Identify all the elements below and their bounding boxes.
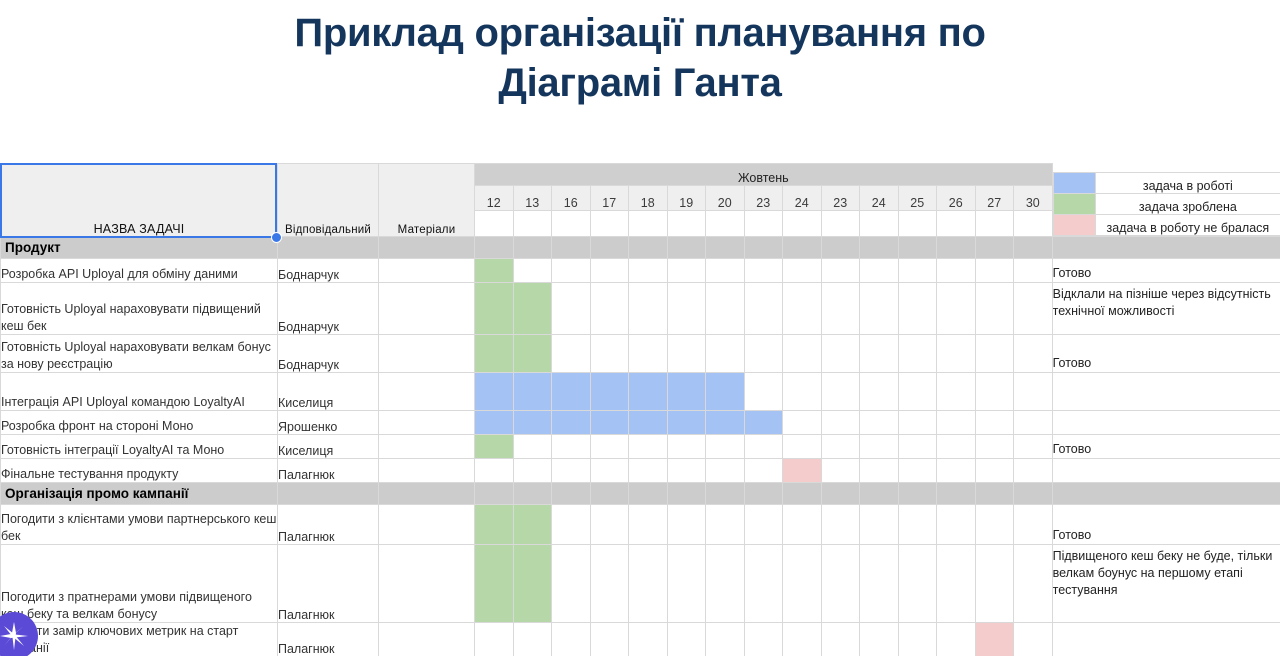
- section-filler-cell: [513, 237, 552, 259]
- gantt-bar-done[interactable]: [475, 335, 514, 373]
- legend-item: задача в роботі: [1053, 173, 1280, 194]
- section-filler-cell: [937, 237, 976, 259]
- gantt-cell[interactable]: [744, 435, 783, 459]
- slide-canvas: Приклад організації планування по Діагра…: [0, 0, 1280, 656]
- task-name-cell[interactable]: Готовність інтеграції LoyaltyAI та Моно: [1, 435, 278, 459]
- materials-cell[interactable]: [379, 283, 475, 335]
- note-cell[interactable]: Готово: [1052, 335, 1280, 373]
- note-cell[interactable]: Готово: [1052, 505, 1280, 545]
- header-row-month: НАЗВА ЗАДАЧІВідповідальнийМатеріалиЖовте…: [1, 164, 1280, 186]
- section-filler-cell: [706, 483, 745, 505]
- timeline-day-header[interactable]: 23: [744, 186, 783, 211]
- gantt-bar-in-progress[interactable]: [667, 373, 706, 411]
- gantt-cell[interactable]: [744, 335, 783, 373]
- section-filler-cell: [278, 237, 379, 259]
- timeline-spacer-cell: [975, 211, 1014, 237]
- gantt-cell[interactable]: [552, 459, 591, 483]
- gantt-bar-not-started[interactable]: [975, 623, 1014, 656]
- gantt-cell[interactable]: [937, 505, 976, 545]
- column-header-materials-label: Матеріали: [379, 224, 474, 236]
- gantt-bar-in-progress[interactable]: [513, 411, 552, 435]
- note-cell[interactable]: Готово: [1052, 259, 1280, 283]
- section-filler-cell: [590, 483, 629, 505]
- note-cell[interactable]: [1052, 623, 1280, 656]
- gantt-cell[interactable]: [821, 623, 860, 656]
- gantt-cell[interactable]: [898, 545, 937, 623]
- table-row[interactable]: Розробка API Uployal для обміну данимиБо…: [1, 259, 1280, 283]
- gantt-cell[interactable]: [706, 459, 745, 483]
- gantt-bar-done[interactable]: [513, 335, 552, 373]
- section-filler-cell: [821, 237, 860, 259]
- section-filler-cell: [975, 237, 1014, 259]
- gantt-cell[interactable]: [937, 259, 976, 283]
- gantt-cell[interactable]: [860, 373, 899, 411]
- table-row[interactable]: Готовність інтеграції LoyaltyAI та МоноК…: [1, 435, 1280, 459]
- materials-cell[interactable]: [379, 435, 475, 459]
- gantt-cell[interactable]: [821, 435, 860, 459]
- section-filler-cell: [278, 483, 379, 505]
- gantt-cell[interactable]: [783, 259, 822, 283]
- section-filler-cell: [379, 483, 475, 505]
- gantt-cell[interactable]: [590, 505, 629, 545]
- timeline-spacer-cell: [706, 211, 745, 237]
- gantt-bar-in-progress[interactable]: [552, 373, 591, 411]
- gantt-bar-in-progress[interactable]: [590, 411, 629, 435]
- gantt-cell[interactable]: [1014, 545, 1053, 623]
- section-filler-cell: [667, 237, 706, 259]
- gantt-cell[interactable]: [629, 259, 668, 283]
- responsible-cell[interactable]: Палагнюк: [278, 545, 379, 623]
- responsible-cell[interactable]: Боднарчук: [278, 283, 379, 335]
- gantt-cell[interactable]: [706, 505, 745, 545]
- timeline-spacer-cell: [744, 211, 783, 237]
- gantt-bar-in-progress[interactable]: [590, 373, 629, 411]
- gantt-bar-done[interactable]: [475, 435, 514, 459]
- gantt-cell[interactable]: [937, 411, 976, 435]
- gantt-cell[interactable]: [898, 259, 937, 283]
- gantt-cell[interactable]: [821, 283, 860, 335]
- gantt-cell[interactable]: [1014, 623, 1053, 656]
- section-filler-cell: [629, 483, 668, 505]
- section-filler-cell: [1052, 483, 1280, 505]
- gantt-cell[interactable]: [860, 335, 899, 373]
- section-filler-cell: [475, 483, 514, 505]
- gantt-cell[interactable]: [667, 505, 706, 545]
- materials-cell[interactable]: [379, 335, 475, 373]
- gantt-cell[interactable]: [706, 435, 745, 459]
- gantt-cell[interactable]: [898, 623, 937, 656]
- gantt-cell[interactable]: [860, 259, 899, 283]
- column-header-task-label: НАЗВА ЗАДАЧІ: [1, 222, 277, 236]
- gantt-cell[interactable]: [629, 545, 668, 623]
- timeline-day-header[interactable]: 16: [552, 186, 591, 211]
- gantt-cell[interactable]: [552, 435, 591, 459]
- timeline-day-header[interactable]: 12: [475, 186, 514, 211]
- materials-cell[interactable]: [379, 259, 475, 283]
- legend-item: задача зроблена: [1053, 194, 1280, 215]
- gantt-cell[interactable]: [744, 459, 783, 483]
- section-filler-cell: [783, 237, 822, 259]
- section-filler-cell: [475, 237, 514, 259]
- timeline-month-header: Жовтень: [475, 164, 1053, 186]
- timeline-day-header[interactable]: 25: [898, 186, 937, 211]
- gantt-cell[interactable]: [783, 545, 822, 623]
- gantt-cell[interactable]: [513, 459, 552, 483]
- gantt-cell[interactable]: [1014, 259, 1053, 283]
- timeline-spacer-cell: [937, 211, 976, 237]
- note-cell[interactable]: Готово: [1052, 435, 1280, 459]
- timeline-spacer-cell: [667, 211, 706, 237]
- task-name-cell[interactable]: Зробити замір ключових метрик на старт к…: [1, 623, 278, 656]
- legend-swatch-in-progress: [1053, 173, 1095, 194]
- gantt-bar-done[interactable]: [513, 545, 552, 623]
- gantt-cell[interactable]: [667, 459, 706, 483]
- gantt-bar-in-progress[interactable]: [629, 411, 668, 435]
- task-name-cell[interactable]: Інтеграція API Uployal командою LoyaltyA…: [1, 373, 278, 411]
- gantt-cell[interactable]: [937, 459, 976, 483]
- timeline-spacer-cell: [783, 211, 822, 237]
- gantt-cell[interactable]: [975, 335, 1014, 373]
- gantt-cell[interactable]: [860, 623, 899, 656]
- note-cell[interactable]: [1052, 373, 1280, 411]
- gantt-cell[interactable]: [590, 459, 629, 483]
- section-filler-cell: [744, 483, 783, 505]
- responsible-cell[interactable]: Киселиця: [278, 373, 379, 411]
- page-title-line-1: Приклад організації планування по: [0, 8, 1280, 58]
- gantt-cell[interactable]: [975, 435, 1014, 459]
- gantt-cell[interactable]: [898, 505, 937, 545]
- gantt-bar-done[interactable]: [475, 505, 514, 545]
- timeline-day-header[interactable]: 13: [513, 186, 552, 211]
- gantt-cell[interactable]: [1014, 283, 1053, 335]
- legend-label-done: задача зроблена: [1095, 194, 1280, 215]
- gantt-cell[interactable]: [821, 411, 860, 435]
- gantt-cell[interactable]: [860, 505, 899, 545]
- materials-cell[interactable]: [379, 373, 475, 411]
- timeline-day-header[interactable]: 27: [975, 186, 1014, 211]
- table-row[interactable]: Зробити замір ключових метрик на старт к…: [1, 623, 1280, 656]
- task-name-cell[interactable]: Готовність Uployal нараховувати підвищен…: [1, 283, 278, 335]
- legend: задача в роботізадача зробленазадача в р…: [1052, 164, 1280, 237]
- gantt-table[interactable]: НАЗВА ЗАДАЧІВідповідальнийМатеріалиЖовте…: [0, 163, 1280, 656]
- task-name-cell[interactable]: Готовність Uployal нараховувати велкам б…: [1, 335, 278, 373]
- materials-cell[interactable]: [379, 623, 475, 656]
- timeline-spacer-cell: [552, 211, 591, 237]
- task-name-cell[interactable]: Погодити з пратнерами умови підвищеного …: [1, 545, 278, 623]
- gantt-cell[interactable]: [513, 623, 552, 656]
- gantt-cell[interactable]: [475, 459, 514, 483]
- gantt-cell[interactable]: [629, 623, 668, 656]
- gantt-cell[interactable]: [937, 623, 976, 656]
- section-filler-cell: [1014, 237, 1053, 259]
- gantt-cell[interactable]: [1014, 373, 1053, 411]
- gantt-cell[interactable]: [590, 545, 629, 623]
- timeline-day-header[interactable]: 18: [629, 186, 668, 211]
- gantt-cell[interactable]: [552, 623, 591, 656]
- gantt-cell[interactable]: [744, 545, 783, 623]
- gantt-bar-in-progress[interactable]: [513, 373, 552, 411]
- gantt-cell[interactable]: [821, 505, 860, 545]
- selection-drag-handle[interactable]: [271, 232, 282, 243]
- responsible-cell[interactable]: Палагнюк: [278, 505, 379, 545]
- gantt-cell[interactable]: [744, 623, 783, 656]
- gantt-cell[interactable]: [898, 411, 937, 435]
- gantt-cell[interactable]: [590, 435, 629, 459]
- legend-item: задача в роботу не бралася: [1053, 215, 1280, 236]
- gantt-cell[interactable]: [860, 435, 899, 459]
- task-name-cell[interactable]: Розробка фронт на стороні Моно: [1, 411, 278, 435]
- section-filler-cell: [513, 483, 552, 505]
- table-row[interactable]: Інтеграція API Uployal командою LoyaltyA…: [1, 373, 1280, 411]
- page-title: Приклад організації планування по Діагра…: [0, 8, 1280, 108]
- gantt-cell[interactable]: [783, 435, 822, 459]
- gantt-cell[interactable]: [629, 505, 668, 545]
- gantt-cell[interactable]: [821, 259, 860, 283]
- section-filler-cell: [667, 483, 706, 505]
- gantt-bar-in-progress[interactable]: [744, 411, 783, 435]
- gantt-cell[interactable]: [552, 505, 591, 545]
- gantt-cell[interactable]: [860, 283, 899, 335]
- note-cell[interactable]: Підвищеного кеш беку не буде, тільки вел…: [1052, 545, 1280, 623]
- section-filler-cell: [629, 237, 668, 259]
- gantt-cell[interactable]: [590, 623, 629, 656]
- section-title: Організація промо кампанії: [1, 483, 278, 505]
- gantt-cell[interactable]: [1014, 411, 1053, 435]
- gantt-cell[interactable]: [975, 505, 1014, 545]
- section-filler-cell: [744, 237, 783, 259]
- materials-cell[interactable]: [379, 545, 475, 623]
- section-filler-cell: [379, 237, 475, 259]
- gantt-cell[interactable]: [783, 373, 822, 411]
- gantt-cell[interactable]: [590, 335, 629, 373]
- responsible-cell[interactable]: Палагнюк: [278, 459, 379, 483]
- gantt-bar-in-progress[interactable]: [475, 411, 514, 435]
- section-filler-cell: [1052, 237, 1280, 259]
- task-name-cell[interactable]: Фінальне тестування продукту: [1, 459, 278, 483]
- timeline-spacer-cell: [475, 211, 514, 237]
- task-name-cell[interactable]: Погодити з клієнтами умови партнерського…: [1, 505, 278, 545]
- responsible-cell[interactable]: Боднарчук: [278, 259, 379, 283]
- responsible-cell[interactable]: Палагнюк: [278, 623, 379, 656]
- gantt-cell[interactable]: [975, 411, 1014, 435]
- gantt-bar-done[interactable]: [513, 505, 552, 545]
- gantt-cell[interactable]: [821, 459, 860, 483]
- gantt-cell[interactable]: [937, 283, 976, 335]
- table-row[interactable]: Фінальне тестування продуктуПалагнюк: [1, 459, 1280, 483]
- gantt-cell[interactable]: [552, 335, 591, 373]
- gantt-bar-done[interactable]: [475, 545, 514, 623]
- gantt-bar-done[interactable]: [513, 283, 552, 335]
- column-header-materials[interactable]: Матеріали: [379, 164, 475, 237]
- gantt-cell[interactable]: [937, 545, 976, 623]
- gantt-cell[interactable]: [898, 373, 937, 411]
- timeline-day-header[interactable]: 17: [590, 186, 629, 211]
- section-header-row: Організація промо кампанії: [1, 483, 1280, 505]
- timeline-spacer-cell: [1014, 211, 1053, 237]
- timeline-spacer-cell: [860, 211, 899, 237]
- legend-swatch-done: [1053, 194, 1095, 215]
- gantt-cell[interactable]: [744, 259, 783, 283]
- timeline-spacer-cell: [821, 211, 860, 237]
- gantt-cell[interactable]: [667, 283, 706, 335]
- gantt-cell[interactable]: [513, 435, 552, 459]
- gantt-bar-not-started[interactable]: [783, 459, 822, 483]
- table-row[interactable]: Погодити з клієнтами умови партнерського…: [1, 505, 1280, 545]
- page-title-line-2: Діаграмі Ганта: [0, 58, 1280, 108]
- table-row[interactable]: Готовність Uployal нараховувати велкам б…: [1, 335, 1280, 373]
- gantt-cell[interactable]: [821, 335, 860, 373]
- gantt-cell[interactable]: [590, 259, 629, 283]
- gantt-cell[interactable]: [552, 283, 591, 335]
- gantt-cell[interactable]: [898, 335, 937, 373]
- legend-table: задача в роботізадача зробленазадача в р…: [1053, 172, 1280, 236]
- timeline-day-header[interactable]: 19: [667, 186, 706, 211]
- gantt-cell[interactable]: [937, 435, 976, 459]
- gantt-cell[interactable]: [937, 373, 976, 411]
- gantt-bar-in-progress[interactable]: [552, 411, 591, 435]
- gantt-bar-done[interactable]: [475, 259, 514, 283]
- responsible-cell[interactable]: Ярошенко: [278, 411, 379, 435]
- gantt-cell[interactable]: [513, 259, 552, 283]
- gantt-cell[interactable]: [667, 545, 706, 623]
- gantt-cell[interactable]: [783, 411, 822, 435]
- section-header-row: Продукт: [1, 237, 1280, 259]
- gantt-cell[interactable]: [629, 459, 668, 483]
- timeline-day-header[interactable]: 24: [860, 186, 899, 211]
- gantt-cell[interactable]: [667, 259, 706, 283]
- gantt-cell[interactable]: [629, 335, 668, 373]
- gantt-cell[interactable]: [898, 459, 937, 483]
- gantt-cell[interactable]: [860, 545, 899, 623]
- gantt-cell[interactable]: [706, 545, 745, 623]
- gantt-cell[interactable]: [1014, 459, 1053, 483]
- gantt-cell[interactable]: [590, 283, 629, 335]
- gantt-cell[interactable]: [821, 545, 860, 623]
- section-filler-cell: [1014, 483, 1053, 505]
- column-header-responsible[interactable]: Відповідальний: [278, 164, 379, 237]
- gantt-cell[interactable]: [860, 411, 899, 435]
- gantt-cell[interactable]: [975, 373, 1014, 411]
- note-cell[interactable]: [1052, 459, 1280, 483]
- gantt-cell[interactable]: [1014, 505, 1053, 545]
- gantt-cell[interactable]: [629, 283, 668, 335]
- gantt-cell[interactable]: [783, 283, 822, 335]
- gantt-cell[interactable]: [744, 283, 783, 335]
- gantt-cell[interactable]: [898, 435, 937, 459]
- timeline-spacer-cell: [898, 211, 937, 237]
- gantt-cell[interactable]: [783, 623, 822, 656]
- gantt-cell[interactable]: [975, 545, 1014, 623]
- note-cell[interactable]: [1052, 411, 1280, 435]
- gantt-bar-in-progress[interactable]: [667, 411, 706, 435]
- section-filler-cell: [552, 237, 591, 259]
- gantt-cell[interactable]: [706, 335, 745, 373]
- gantt-cell[interactable]: [667, 435, 706, 459]
- section-filler-cell: [590, 237, 629, 259]
- gantt-spreadsheet[interactable]: НАЗВА ЗАДАЧІВідповідальнийМатеріалиЖовте…: [0, 163, 1280, 656]
- gantt-cell[interactable]: [975, 459, 1014, 483]
- gantt-cell[interactable]: [629, 435, 668, 459]
- gantt-bar-in-progress[interactable]: [629, 373, 668, 411]
- section-filler-cell: [821, 483, 860, 505]
- timeline-day-header[interactable]: 23: [821, 186, 860, 211]
- materials-cell[interactable]: [379, 411, 475, 435]
- gantt-cell[interactable]: [706, 623, 745, 656]
- timeline-spacer-cell: [590, 211, 629, 237]
- gantt-cell[interactable]: [975, 283, 1014, 335]
- section-filler-cell: [975, 483, 1014, 505]
- section-filler-cell: [783, 483, 822, 505]
- gantt-cell[interactable]: [706, 259, 745, 283]
- gantt-cell[interactable]: [667, 335, 706, 373]
- legend-label-in-progress: задача в роботі: [1095, 173, 1280, 194]
- gantt-cell[interactable]: [706, 283, 745, 335]
- column-header-responsible-label: Відповідальний: [278, 224, 378, 236]
- gantt-bar-in-progress[interactable]: [706, 411, 745, 435]
- table-row[interactable]: Погодити з пратнерами умови підвищеного …: [1, 545, 1280, 623]
- column-header-task[interactable]: НАЗВА ЗАДАЧІ: [1, 164, 278, 237]
- gantt-cell[interactable]: [821, 373, 860, 411]
- gantt-bar-in-progress[interactable]: [475, 373, 514, 411]
- timeline-day-header[interactable]: 20: [706, 186, 745, 211]
- gantt-cell[interactable]: [1014, 335, 1053, 373]
- section-filler-cell: [898, 483, 937, 505]
- section-filler-cell: [860, 483, 899, 505]
- materials-cell[interactable]: [379, 459, 475, 483]
- gantt-cell[interactable]: [552, 545, 591, 623]
- responsible-cell[interactable]: Киселиця: [278, 435, 379, 459]
- gantt-cell[interactable]: [744, 505, 783, 545]
- gantt-cell[interactable]: [937, 335, 976, 373]
- timeline-day-header[interactable]: 24: [783, 186, 822, 211]
- timeline-spacer-cell: [629, 211, 668, 237]
- gantt-cell[interactable]: [552, 259, 591, 283]
- gantt-bar-in-progress[interactable]: [706, 373, 745, 411]
- table-row[interactable]: Розробка фронт на стороні МоноЯрошенко: [1, 411, 1280, 435]
- gantt-bar-done[interactable]: [475, 283, 514, 335]
- timeline-day-header[interactable]: 26: [937, 186, 976, 211]
- gantt-cell[interactable]: [783, 505, 822, 545]
- gantt-cell[interactable]: [898, 283, 937, 335]
- gantt-cell[interactable]: [667, 623, 706, 656]
- note-cell[interactable]: Відклали на пізніше через відсутність те…: [1052, 283, 1280, 335]
- task-name-cell[interactable]: Розробка API Uployal для обміну даними: [1, 259, 278, 283]
- gantt-cell[interactable]: [1014, 435, 1053, 459]
- timeline-day-header[interactable]: 30: [1014, 186, 1053, 211]
- timeline-spacer-cell: [513, 211, 552, 237]
- gantt-cell[interactable]: [975, 259, 1014, 283]
- section-filler-cell: [552, 483, 591, 505]
- gantt-cell[interactable]: [744, 373, 783, 411]
- section-filler-cell: [898, 237, 937, 259]
- section-filler-cell: [937, 483, 976, 505]
- gantt-cell[interactable]: [783, 335, 822, 373]
- section-filler-cell: [860, 237, 899, 259]
- responsible-cell[interactable]: Боднарчук: [278, 335, 379, 373]
- section-title: Продукт: [1, 237, 278, 259]
- materials-cell[interactable]: [379, 505, 475, 545]
- gantt-cell[interactable]: [860, 459, 899, 483]
- section-filler-cell: [706, 237, 745, 259]
- legend-swatch-not-started: [1053, 215, 1095, 236]
- table-row[interactable]: Готовність Uployal нараховувати підвищен…: [1, 283, 1280, 335]
- gantt-cell[interactable]: [475, 623, 514, 656]
- legend-label-not-started: задача в роботу не бралася: [1095, 215, 1280, 236]
